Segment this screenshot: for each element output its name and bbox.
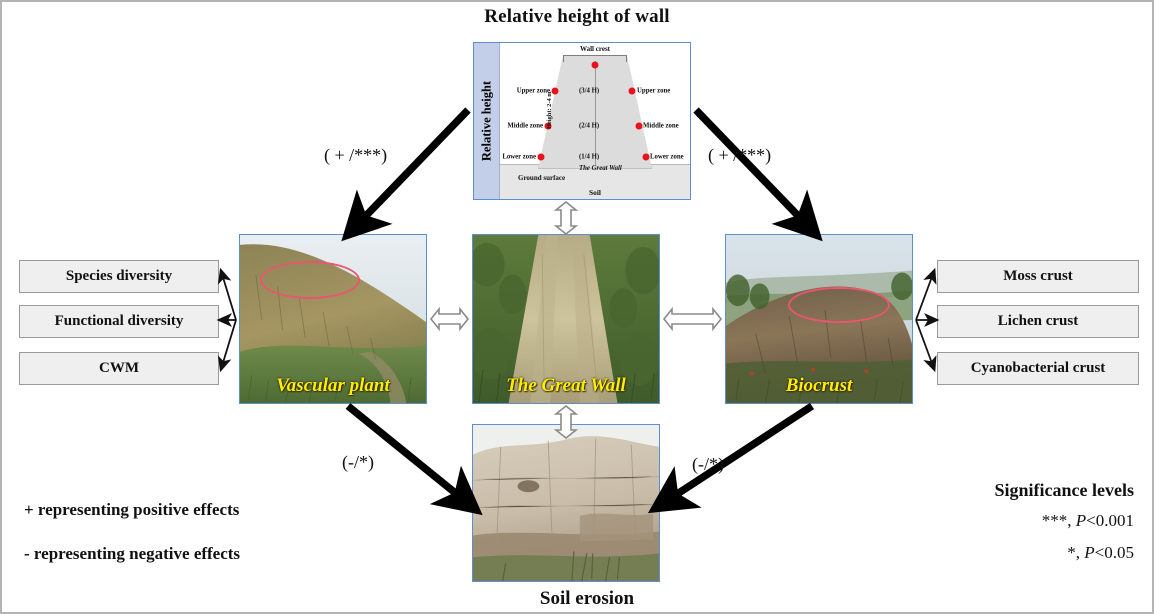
dot-crest: [592, 62, 599, 69]
box-moss-crust[interactable]: Moss crust: [937, 260, 1139, 293]
note-positive: + representing positive effects: [24, 500, 364, 520]
ground-surface-label: Ground surface: [518, 174, 565, 182]
arrow-biocrust-to-cyano: [916, 320, 933, 366]
double-arrow-greatwall-to-biocrust: [664, 309, 721, 329]
dot-upper-right: [629, 88, 636, 95]
box-species-diversity[interactable]: Species diversity: [19, 260, 219, 293]
legend-p-symbol-1: P: [1076, 511, 1086, 530]
legend-pvalue-2: <0.05: [1095, 543, 1134, 562]
wall-crest-label: Wall crest: [580, 45, 610, 53]
label-lower-zone-right: Lower zone: [650, 154, 684, 161]
figure-canvas: Relative height of wall Soil erosion Rel…: [0, 0, 1154, 614]
legend-title: Significance levels: [874, 480, 1134, 501]
relative-height-label: Relative height: [479, 81, 494, 161]
wall-height-label: Height: 2-4 m: [546, 91, 553, 129]
legend-stars-1: *,: [1067, 543, 1084, 562]
highlight-ellipse-vascular: [260, 261, 360, 299]
box-functional-diversity[interactable]: Functional diversity: [19, 305, 219, 338]
legend-row-three-stars: ***, P<0.001: [874, 511, 1134, 531]
double-arrow-vascular-to-greatwall: [431, 309, 468, 329]
legend-p-symbol-2: P: [1084, 543, 1094, 562]
arrow-biocrust-to-moss: [916, 274, 933, 320]
annotation-vascular-erosion: (-/*): [342, 452, 374, 473]
photo-great-wall-caption: The Great Wall: [473, 375, 659, 397]
legend-pvalue-1: <0.001: [1086, 511, 1134, 530]
photo-biocrust: Biocrust: [725, 234, 913, 404]
soil-erosion-title: Soil erosion: [462, 588, 712, 610]
box-cyanobacterial-crust[interactable]: Cyanobacterial crust: [937, 352, 1139, 385]
dot-lower-right: [643, 154, 650, 161]
arrow-wall-to-biocrust: [696, 110, 806, 224]
wall-name-label: The Great Wall: [579, 165, 622, 172]
photo-vascular-caption: Vascular plant: [240, 375, 426, 397]
photo-vascular-plant: Vascular plant: [239, 234, 427, 404]
dot-lower-left: [538, 154, 545, 161]
highlight-ellipse-biocrust: [788, 287, 890, 323]
relative-height-axis: Relative height: [474, 43, 500, 199]
fraction-two-quarter: (2/4 H): [579, 123, 599, 130]
label-middle-zone-right: Middle zone: [643, 123, 679, 130]
fraction-one-quarter: (1/4 H): [579, 154, 599, 161]
box-cwm[interactable]: CWM: [19, 352, 219, 385]
legend-stars-3: ***,: [1042, 511, 1076, 530]
legend-row-one-star: *, P<0.05: [874, 543, 1134, 563]
note-negative: - representing negative effects: [24, 544, 364, 564]
dot-middle-right: [636, 123, 643, 130]
page-title: Relative height of wall: [2, 6, 1152, 28]
annotation-wall-biocrust: ( + /***): [708, 145, 771, 166]
photo-soil-erosion-art: [473, 425, 659, 581]
wall-centerline: [595, 61, 596, 165]
arrow-vascular-to-cwm: [222, 320, 236, 366]
label-lower-zone-left: Lower zone: [496, 154, 536, 161]
annotation-wall-vascular: ( + /***): [324, 145, 387, 166]
label-upper-zone-left: Upper zone: [502, 88, 550, 95]
wall-schematic-inner: Wall crest Upper zone Upper zone (3/4 H)…: [500, 43, 690, 199]
box-lichen-crust[interactable]: Lichen crust: [937, 305, 1139, 338]
soil-label: Soil: [589, 188, 601, 197]
significance-legend: Significance levels ***, P<0.001 *, P<0.…: [874, 480, 1134, 575]
arrow-vascular-to-species: [222, 274, 236, 320]
arrow-biocrust-to-erosion: [668, 406, 812, 500]
annotation-biocrust-erosion: (-/*): [692, 454, 724, 475]
photo-biocrust-caption: Biocrust: [726, 375, 912, 397]
photo-soil-erosion: [472, 424, 660, 582]
photo-great-wall: The Great Wall: [472, 234, 660, 404]
fraction-three-quarter: (3/4 H): [579, 88, 599, 95]
arrow-wall-to-vascular: [358, 110, 468, 224]
double-arrow-wall-to-greatwall: [556, 202, 576, 234]
label-upper-zone-right: Upper zone: [637, 88, 670, 95]
effect-notes: + representing positive effects - repres…: [24, 500, 364, 588]
wall-schematic: Relative height Wall crest Upper zone Up…: [473, 42, 691, 200]
label-middle-zone-left: Middle zone: [500, 123, 543, 130]
